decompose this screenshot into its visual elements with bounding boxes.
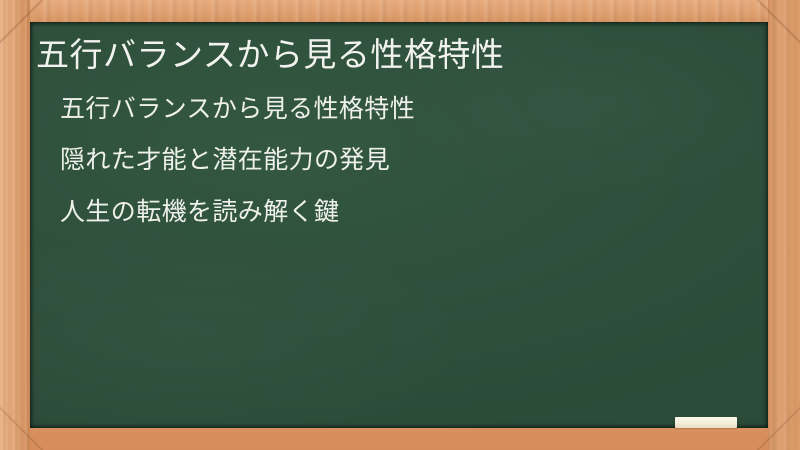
chalkboard-content: 五行バランスから見る性格特性 五行バランスから見る性格特性 隠れた才能と潜在能力…: [30, 22, 768, 226]
frame-rail-top: [0, 0, 800, 22]
chalk-stick-icon: [675, 417, 737, 428]
slide-bullet-list: 五行バランスから見る性格特性 隠れた才能と潜在能力の発見 人生の転機を読み解く鍵: [36, 94, 744, 227]
frame-rail-right: [768, 0, 800, 450]
slide-title: 五行バランスから見る性格特性: [36, 36, 744, 74]
list-item: 隠れた才能と潜在能力の発見: [60, 145, 744, 175]
list-item: 人生の転機を読み解く鍵: [60, 197, 744, 227]
chalkboard-slide: 五行バランスから見る性格特性 五行バランスから見る性格特性 隠れた才能と潜在能力…: [0, 0, 800, 450]
frame-rail-left: [0, 0, 30, 450]
chalkboard-surface: 五行バランスから見る性格特性 五行バランスから見る性格特性 隠れた才能と潜在能力…: [30, 22, 768, 428]
frame-rail-bottom: [0, 428, 800, 450]
list-item: 五行バランスから見る性格特性: [60, 94, 744, 124]
